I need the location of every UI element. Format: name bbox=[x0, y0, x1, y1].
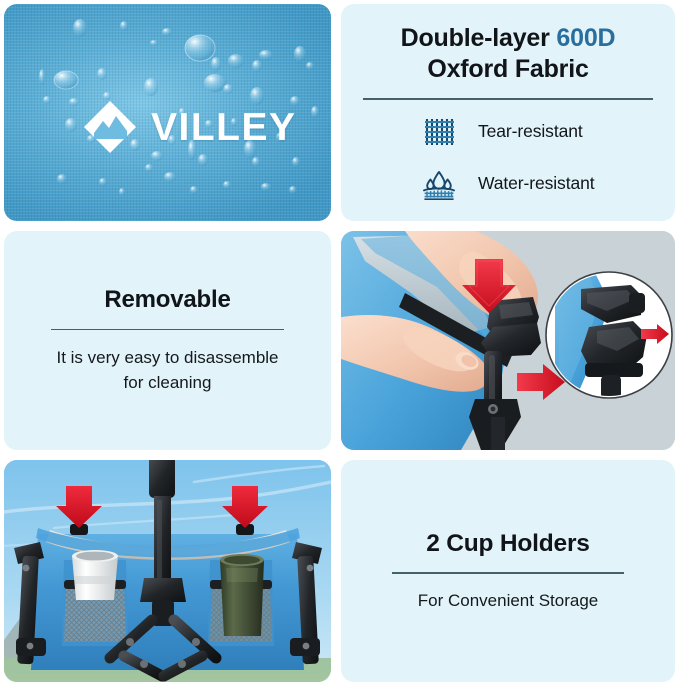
panel-fabric-photo: VILLEY bbox=[4, 4, 331, 221]
woven-mesh-icon bbox=[421, 114, 457, 150]
clip-closeup-inset bbox=[546, 272, 672, 399]
cupholder-subline: For Convenient Storage bbox=[418, 589, 599, 614]
fabric-headline-accent: 600D bbox=[556, 24, 615, 52]
feature-water-resistant: Water-resistant bbox=[421, 166, 653, 202]
cup-holder-right bbox=[208, 554, 274, 646]
diamond-mountain-logo-icon bbox=[82, 99, 138, 155]
feature-tear-resistant-label: Tear-resistant bbox=[478, 121, 583, 142]
panel-wagon-photo bbox=[4, 460, 331, 682]
brand-name: VILLEY bbox=[151, 108, 297, 147]
removable-subline-line1: It is very easy to disassemble bbox=[56, 348, 278, 367]
cup-holders-illustration bbox=[4, 460, 331, 682]
villey-logo: VILLEY bbox=[82, 99, 297, 155]
removable-subline-line2: for cleaning bbox=[124, 373, 212, 392]
panel-cupholder-text: 2 Cup Holders For Convenient Storage bbox=[341, 460, 675, 682]
fabric-headline-line2: Oxford Fabric bbox=[427, 55, 588, 83]
panel-clip-photo bbox=[341, 231, 675, 450]
panel-fabric-text: Double-layer 600D Oxford Fabric bbox=[341, 4, 675, 221]
feature-water-resistant-label: Water-resistant bbox=[478, 173, 595, 194]
cupholder-headline: 2 Cup Holders bbox=[426, 529, 589, 559]
fabric-headline: Double-layer 600D Oxford Fabric bbox=[401, 23, 616, 85]
removable-subline: It is very easy to disassemble for clean… bbox=[56, 346, 278, 395]
panel-removable-text: Removable It is very easy to disassemble… bbox=[4, 231, 331, 450]
fabric-headline-part1: Double-layer bbox=[401, 24, 557, 52]
removable-divider bbox=[51, 329, 283, 331]
removable-headline: Removable bbox=[104, 285, 230, 315]
product-feature-infographic: VILLEY Double-layer 600D Oxford Fabric bbox=[0, 0, 679, 686]
cup-holder-left bbox=[62, 550, 128, 646]
fabric-feature-list: Tear-resistant bbox=[363, 114, 653, 202]
cupholder-divider bbox=[392, 572, 624, 574]
water-droplets-icon bbox=[421, 166, 457, 202]
feature-tear-resistant: Tear-resistant bbox=[421, 114, 653, 150]
clip-release-illustration bbox=[341, 231, 675, 450]
fabric-divider bbox=[363, 98, 653, 100]
